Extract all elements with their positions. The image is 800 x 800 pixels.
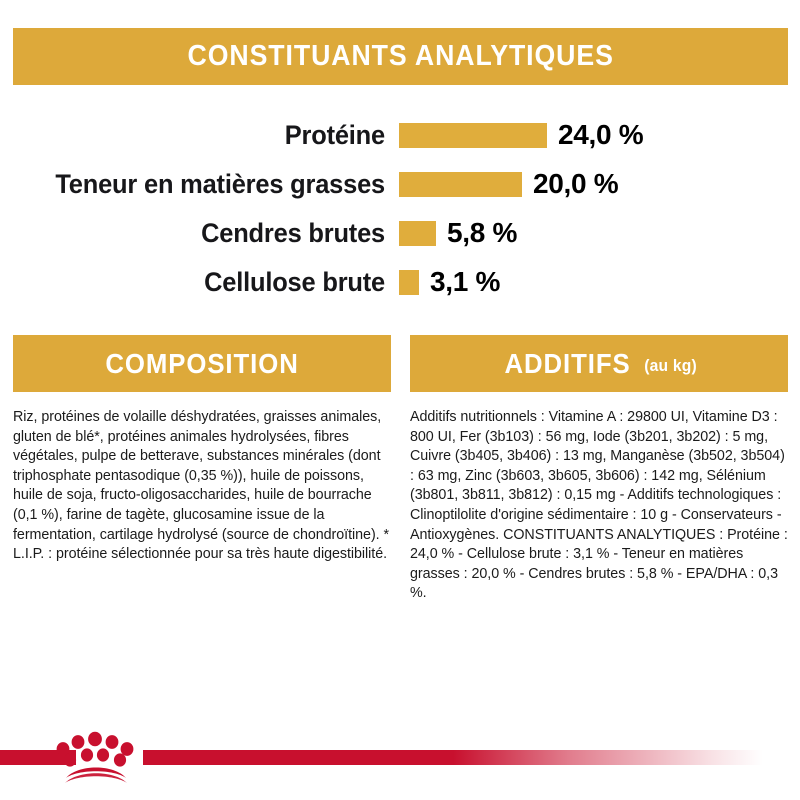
composition-text: Riz, protéines de volaille déshydratées,… [13, 408, 391, 565]
composition-panel: COMPOSITION Riz, protéines de volaille d… [13, 335, 391, 565]
chart-bar [399, 221, 436, 246]
footer [0, 750, 800, 800]
chart-bar [399, 172, 522, 197]
additives-heading: ADDITIFS [504, 348, 630, 380]
banner-title: CONSTITUANTS ANALYTIQUES [187, 40, 613, 73]
analytical-constituents-banner: CONSTITUANTS ANALYTIQUES [13, 28, 788, 85]
footer-rule-right [143, 750, 763, 765]
composition-heading: COMPOSITION [105, 348, 298, 380]
chart-bar-wrap: 5,8 % [399, 217, 517, 249]
chart-bar-wrap: 3,1 % [399, 266, 500, 298]
additives-panel-header: ADDITIFS (au kg) [410, 335, 788, 392]
chart-category-label: Teneur en matières grasses [15, 169, 385, 200]
additives-heading-unit: (au kg) [644, 356, 697, 376]
chart-bar [399, 123, 547, 148]
chart-category-label: Protéine [15, 120, 385, 151]
chart-row: Cellulose brute 3,1 % [0, 260, 800, 304]
analytical-constituents-chart: Protéine 24,0 % Teneur en matières grass… [0, 108, 800, 308]
chart-row: Cendres brutes 5,8 % [0, 211, 800, 255]
additives-panel: ADDITIFS (au kg) Additifs nutritionnels … [410, 335, 788, 604]
chart-row: Teneur en matières grasses 20,0 % [0, 162, 800, 206]
chart-value-label: 20,0 % [533, 168, 618, 200]
chart-category-label: Cendres brutes [15, 218, 385, 249]
chart-category-label: Cellulose brute [15, 267, 385, 298]
chart-value-label: 3,1 % [430, 266, 500, 298]
chart-bar-wrap: 20,0 % [399, 168, 618, 200]
chart-row: Protéine 24,0 % [0, 113, 800, 157]
additives-text: Additifs nutritionnels : Vitamine A : 29… [410, 408, 788, 604]
chart-bar [399, 270, 419, 295]
chart-bar-wrap: 24,0 % [399, 119, 643, 151]
chart-value-label: 5,8 % [447, 217, 517, 249]
chart-value-label: 24,0 % [558, 119, 643, 151]
composition-panel-header: COMPOSITION [13, 335, 391, 392]
royal-canin-crown-icon [56, 728, 138, 784]
